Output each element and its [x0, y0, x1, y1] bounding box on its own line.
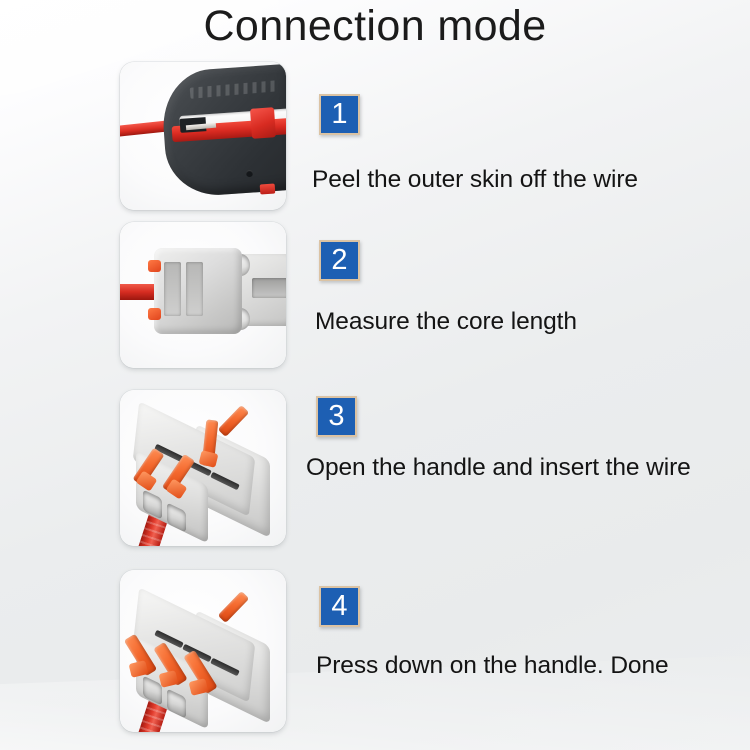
stripper-pivot-dot-shape	[246, 170, 253, 177]
red-wire-shape	[120, 284, 158, 300]
step-1-photo-card	[120, 62, 286, 210]
connector-levers-open-wire-inserted-image	[120, 390, 286, 546]
connector-wing-slot-shape	[252, 278, 286, 298]
step-1-number-badge: 1	[319, 94, 360, 135]
connector-levers-closed-clamped-image	[120, 570, 286, 732]
step-4-caption: Press down on the handle. Done	[316, 652, 669, 680]
orange-lever-shape	[148, 260, 161, 272]
orange-lever-shape	[148, 308, 161, 320]
connector-window-shape	[186, 262, 203, 316]
step-2-caption: Measure the core length	[315, 308, 577, 336]
step-2-number-badge: 2	[319, 240, 360, 281]
step-3-caption: Open the handle and insert the wire	[306, 454, 691, 482]
stripper-red-block-shape	[250, 107, 276, 139]
step-4-photo-card	[120, 570, 286, 732]
stripper-red-tab-shape	[260, 183, 276, 194]
orange-lever-closed-shape	[218, 591, 250, 623]
connector-window-shape	[164, 262, 181, 316]
connector-measuring-core-length-image	[120, 222, 286, 368]
wire-stripper-peeling-red-wire-image	[120, 62, 286, 210]
step-1-caption: Peel the outer skin off the wire	[312, 166, 638, 194]
product-instruction-page: Connection mode 1 Peel the outer skin of…	[0, 0, 750, 750]
step-4-number-badge: 4	[319, 586, 360, 627]
step-3-number-badge: 3	[316, 396, 357, 437]
step-2-photo-card	[120, 222, 286, 368]
step-3-photo-card	[120, 390, 286, 546]
page-title: Connection mode	[0, 2, 750, 51]
orange-lever-open-shape	[218, 405, 250, 437]
